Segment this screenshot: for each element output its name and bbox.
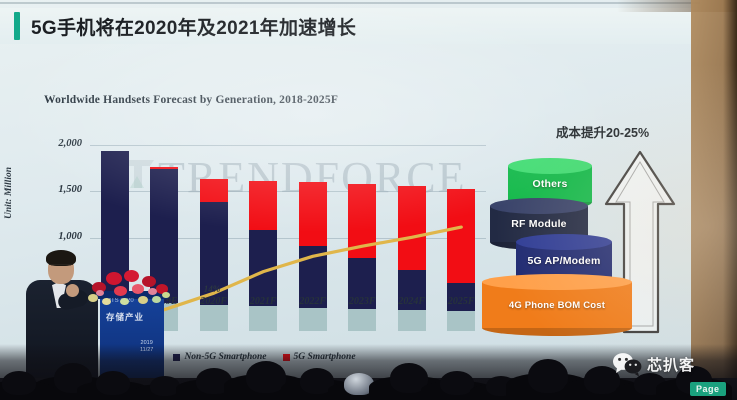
title-accent-bar [14, 12, 20, 40]
x-axis-label-2023F: 2023F [340, 296, 384, 307]
flower [138, 296, 148, 304]
presentation-slide: 5G手机将在2020年及2021年加速增长 Worldwide Handsets… [0, 0, 737, 378]
flower [124, 270, 139, 282]
wechat-account-name: 芯扒客 [647, 354, 695, 375]
bar-2023F [348, 184, 376, 331]
audience-head [2, 371, 36, 395]
bar-2025F [447, 189, 475, 331]
audience-head [528, 359, 568, 393]
bar-segment-5g-smartphone [398, 186, 426, 271]
wechat-icon [612, 352, 642, 376]
x-axis-label-2022F: 2022F [291, 296, 335, 307]
slide-title-bar: 5G手机将在2020年及2021年加速增长 [0, 8, 700, 44]
y-axis-title-line1: Production Volume [0, 155, 3, 231]
x-axis-label-2025F: 2025F [439, 296, 483, 307]
flower [148, 288, 157, 295]
bar-segment-5g-smartphone [299, 182, 327, 246]
bar-segment-5g-smartphone [249, 181, 277, 230]
y-axis-title-line2: Unit: Million [4, 167, 14, 219]
flower [96, 290, 104, 296]
speaker-hand [66, 284, 79, 297]
x-axis-label-2021F: 2021F [241, 296, 285, 307]
audience-head [440, 371, 474, 395]
flower [102, 298, 111, 305]
bar-segment-non-5g-smartphone [249, 230, 277, 306]
bar-segment-featurephone [200, 305, 228, 331]
y-axis-tick: 1,500 [58, 184, 82, 195]
slide-title: 5G手机将在2020年及2021年加速增长 [31, 13, 356, 40]
bom-cost-diagram: 成本提升20-25% OthersRF Module5G AP/Modem4G … [482, 130, 682, 360]
bar-segment-5g-smartphone [447, 189, 475, 282]
flower [152, 296, 161, 303]
gridline [90, 145, 486, 146]
bar-segment-5g-smartphone [200, 179, 228, 202]
bar-segment-5g-smartphone [348, 184, 376, 259]
bom-layer-label: 4G Phone BOM Cost [482, 274, 632, 336]
bar-2020F [200, 179, 228, 331]
y-axis-title: Production Volume Unit: Million [0, 155, 15, 231]
screenshot-root: 5G手机将在2020年及2021年加速增长 Worldwide Handsets… [0, 0, 737, 400]
audience-head [246, 361, 286, 393]
y-axis-tick: 1,000 [58, 231, 82, 242]
bar-2024F [398, 186, 426, 331]
flower-arrangement [86, 266, 172, 314]
bom-cost-note: 成本提升20-25% [556, 122, 649, 141]
x-axis-label-2024F: 2024F [390, 296, 434, 307]
bar-segment-featurephone [348, 309, 376, 331]
bar-2022F [299, 182, 327, 331]
speaker-glasses [49, 264, 73, 271]
flower [106, 272, 122, 285]
flower [132, 284, 144, 294]
wechat-account-badge: 芯扒客 [612, 352, 695, 376]
chart-title: Worldwide Handsets Forecast by Generatio… [44, 94, 338, 106]
title-divider [0, 2, 700, 4]
bar-segment-featurephone [249, 306, 277, 331]
flower [142, 276, 156, 287]
bar-segment-featurephone [447, 311, 475, 332]
flower [114, 286, 127, 296]
annotation-14pct: 14% [204, 284, 221, 294]
bar-segment-featurephone [398, 310, 426, 331]
page-tag: Page [690, 382, 726, 396]
bar-segment-featurephone [299, 308, 327, 331]
audience-head [96, 371, 130, 395]
flower [162, 292, 170, 298]
bom-layer-4g-phone-bom-cost: 4G Phone BOM Cost [482, 274, 632, 336]
y-axis-tick: 2,000 [58, 138, 82, 149]
room-right-shadow [723, 0, 737, 378]
x-axis-label-2020F: 2020F [192, 296, 236, 307]
bar-2021F [249, 181, 277, 331]
flower [120, 298, 129, 305]
